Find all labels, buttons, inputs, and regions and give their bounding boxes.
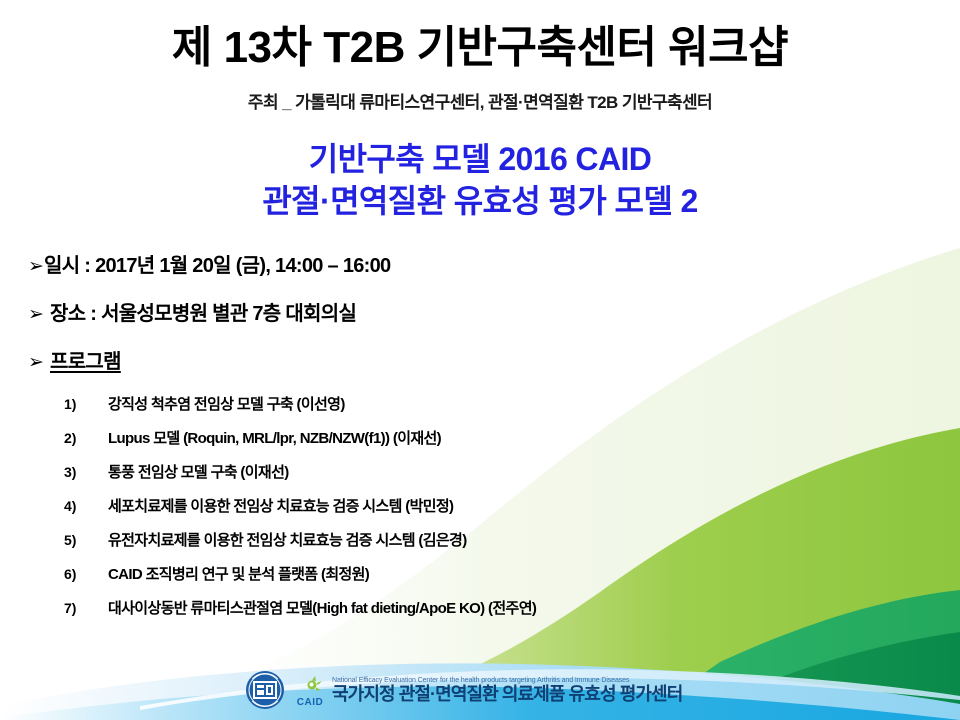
list-item-label: 강직성 척추염 전임상 모델 구축 (이선영) xyxy=(108,393,345,414)
bullet-datetime-label: 일시 : 2017년 1월 20일 (금), 14:00 – 16:00 xyxy=(44,249,390,278)
footer-korean-line: 국가지정 관절·면역질환 의료제품 유효성 평가센터 xyxy=(332,685,682,703)
footer-center-name: National Efficacy Evaluation Center for … xyxy=(332,677,682,704)
caid-mark-icon xyxy=(295,673,325,697)
list-item-label: Lupus 모델 (Roquin, MRL/lpr, NZB/NZW(f1)) … xyxy=(108,427,441,448)
arrow-bullet-icon: ➢ xyxy=(28,305,50,324)
list-item-number: 7) xyxy=(64,600,108,616)
bullet-program: ➢ 프로그램 xyxy=(28,345,960,374)
caid-logo-icon: CAID xyxy=(295,673,325,708)
list-item: 3) 통풍 전임상 모델 구축 (이재선) xyxy=(64,461,960,482)
list-item-label: CAID 조직병리 연구 및 분석 플랫폼 (최정원) xyxy=(108,563,369,584)
bullet-datetime: ➢ 일시 : 2017년 1월 20일 (금), 14:00 – 16:00 xyxy=(28,249,960,278)
subject-line-1: 기반구축 모델 2016 CAID xyxy=(0,139,960,181)
list-item-label: 대사이상동반 류마티스관절염 모델(High fat dieting/ApoE … xyxy=(108,597,536,618)
page-title: 제 13차 T2B 기반구축센터 워크샵 xyxy=(0,24,960,72)
list-item: 6) CAID 조직병리 연구 및 분석 플랫폼 (최정원) xyxy=(64,563,960,584)
list-item-number: 3) xyxy=(64,464,108,480)
list-item: 7) 대사이상동반 류마티스관절염 모델(High fat dieting/Ap… xyxy=(64,597,960,618)
slide-canvas: 제 13차 T2B 기반구축센터 워크샵 주최 _ 가톨릭대 류마티스연구센터,… xyxy=(0,0,960,720)
bullet-venue-label: 장소 : 서울성모병원 별관 7층 대회의실 xyxy=(50,297,356,326)
university-seal-icon xyxy=(245,670,285,710)
program-list: 1) 강직성 척추염 전임상 모델 구축 (이선영) 2) Lupus 모델 (… xyxy=(0,393,960,618)
list-item: 2) Lupus 모델 (Roquin, MRL/lpr, NZB/NZW(f1… xyxy=(64,427,960,448)
bullet-venue: ➢ 장소 : 서울성모병원 별관 7층 대회의실 xyxy=(28,297,960,326)
host-line: 주최 _ 가톨릭대 류마티스연구센터, 관절·면역질환 T2B 기반구축센터 xyxy=(0,88,960,113)
arrow-bullet-icon: ➢ xyxy=(28,353,50,372)
list-item: 1) 강직성 척추염 전임상 모델 구축 (이선영) xyxy=(64,393,960,414)
list-item-number: 1) xyxy=(64,396,108,412)
poster-header: 제 13차 T2B 기반구축센터 워크샵 주최 _ 가톨릭대 류마티스연구센터,… xyxy=(0,0,960,113)
subject-line-2: 관절·면역질환 유효성 평가 모델 2 xyxy=(0,181,960,223)
arrow-bullet-icon: ➢ xyxy=(28,257,44,276)
footer-logo-bar: CAID National Efficacy Evaluation Center… xyxy=(245,670,682,710)
list-item-number: 5) xyxy=(64,532,108,548)
subject-heading: 기반구축 모델 2016 CAID 관절·면역질환 유효성 평가 모델 2 xyxy=(0,139,960,222)
list-item: 4) 세포치료제를 이용한 전임상 치료효능 검증 시스템 (박민정) xyxy=(64,495,960,516)
list-item-number: 2) xyxy=(64,430,108,446)
list-item-number: 4) xyxy=(64,498,108,514)
detail-bullets: ➢ 일시 : 2017년 1월 20일 (금), 14:00 – 16:00 ➢… xyxy=(0,249,960,374)
list-item-label: 통풍 전임상 모델 구축 (이재선) xyxy=(108,461,289,482)
list-item-number: 6) xyxy=(64,566,108,582)
list-item: 5) 유전자치료제를 이용한 전임상 치료효능 검증 시스템 (김은경) xyxy=(64,529,960,550)
bullet-program-label: 프로그램 xyxy=(50,345,121,374)
list-item-label: 유전자치료제를 이용한 전임상 치료효능 검증 시스템 (김은경) xyxy=(108,529,467,550)
list-item-label: 세포치료제를 이용한 전임상 치료효능 검증 시스템 (박민정) xyxy=(108,495,453,516)
caid-wordmark: CAID xyxy=(297,698,323,708)
